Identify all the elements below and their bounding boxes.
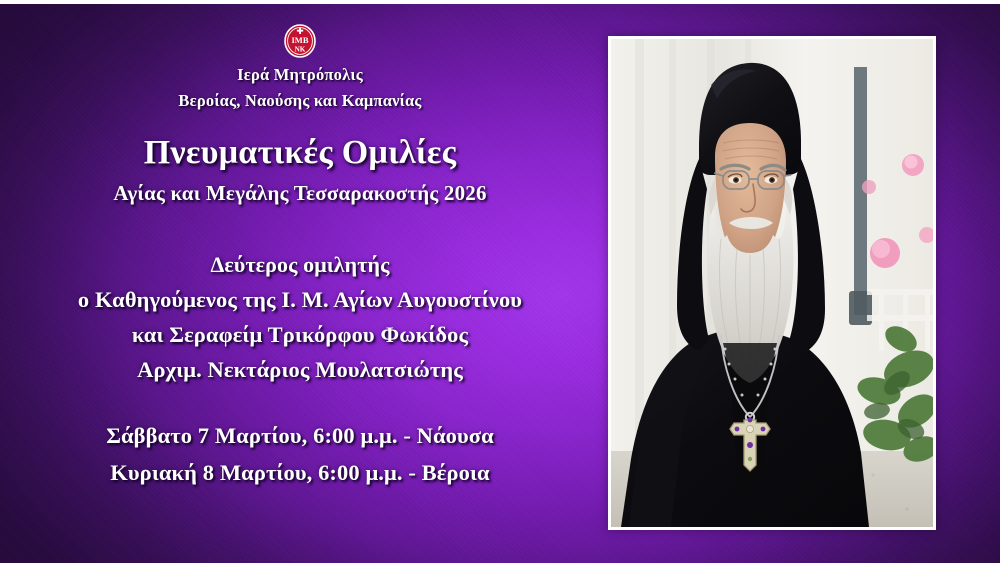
svg-text:ΙΜΒ: ΙΜΒ [292,35,309,45]
org-line-2: Βεροίας, Ναούσης και Καμπανίας [0,88,600,114]
date-line-1: Σάββατο 7 Μαρτίου, 6:00 μ.μ. - Νάουσα [0,417,600,454]
bottom-margin [0,563,1000,576]
top-margin [0,0,1000,4]
speaker-line-1: ο Καθηγούμενος της Ι. Μ. Αγίων Αυγουστίν… [0,282,600,317]
page-subtitle: Αγίας και Μεγάλης Τεσσαρακοστής 2026 [0,178,600,208]
speaker-photo-frame [608,36,936,530]
speaker-block: Δεύτερος ομιλητής ο Καθηγούμενος της Ι. … [0,247,600,387]
speaker-line-2: και Σεραφείμ Τρικόρφου Φωκίδος [0,317,600,352]
organization-block: Ιερά Μητρόπολις Βεροίας, Ναούσης και Καμ… [0,62,600,114]
text-column: ΙΜΒ ΝΚ Ιερά Μητρόπολις Βεροίας, Ναούσης … [0,4,600,563]
emblem-container: ΙΜΒ ΝΚ [0,20,600,62]
title-block: Πνευματικές Ομιλίες Αγίας και Μεγάλης Τε… [0,132,600,208]
poster-root: ΙΜΒ ΝΚ Ιερά Μητρόπολις Βεροίας, Ναούσης … [0,0,1000,576]
speaker-photo [611,39,933,527]
speaker-name: Αρχιμ. Νεκτάριος Μουλατσιώτης [0,352,600,387]
svg-text:ΝΚ: ΝΚ [295,45,306,53]
metropolis-seal-icon: ΙΜΒ ΝΚ [280,20,320,62]
page-title: Πνευματικές Ομιλίες [0,132,600,174]
speaker-lead: Δεύτερος ομιλητής [0,247,600,282]
dates-block: Σάββατο 7 Μαρτίου, 6:00 μ.μ. - Νάουσα Κυ… [0,417,600,491]
date-line-2: Κυριακή 8 Μαρτίου, 6:00 μ.μ. - Βέροια [0,454,600,491]
org-line-1: Ιερά Μητρόπολις [0,62,600,88]
